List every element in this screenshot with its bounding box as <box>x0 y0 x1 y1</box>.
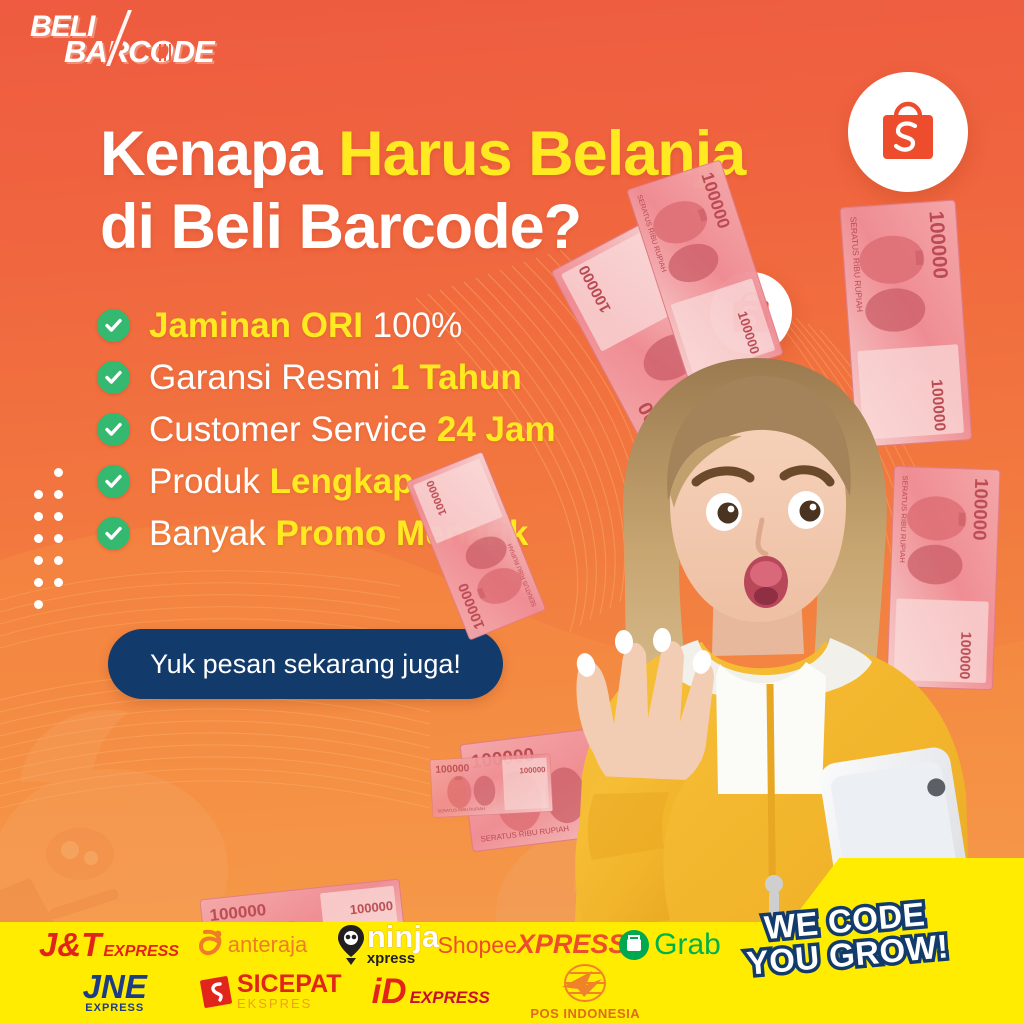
list-item-label: Garansi Resmi 1 Tahun <box>149 360 522 395</box>
headline-highlight: Harus Belanja <box>338 119 745 189</box>
courier-logo-jnt-express[interactable]: J&T EXPRESS <box>36 928 182 961</box>
page-title: Kenapa Harus Belanja di Beli Barcode? <box>100 118 880 264</box>
brand-logo[interactable]: BELI BELI BARCODE BARCODE <box>26 8 236 68</box>
feature-prefix: Garansi Resmi <box>149 358 390 397</box>
courier-row-2: JNE EXPRESS SICEPAT EKSPRES iD EXPRESS <box>40 963 660 1020</box>
courier-logo-ninja-xpress[interactable]: ninja xpress <box>322 923 454 966</box>
promo-banner: BELI BELI BARCODE BARCODE Kenapa Harus B… <box>0 0 1024 1024</box>
jne-sub: EXPRESS <box>85 1003 144 1014</box>
anteraja-label: anteraja <box>228 934 308 956</box>
feature-highlight: Lengkap <box>270 462 414 501</box>
order-now-button-label: Yuk pesan sekarang juga! <box>150 649 461 680</box>
order-now-button[interactable]: Yuk pesan sekarang juga! <box>108 629 503 699</box>
jne-main: JNE <box>83 970 147 1003</box>
feature-prefix: Customer Service <box>149 410 437 449</box>
headline-line-2: di Beli Barcode? <box>100 191 880 264</box>
grabexpress-mark-icon <box>619 930 649 960</box>
pos-indonesia-bird-icon <box>556 963 614 1007</box>
pos-label: POS INDONESIA <box>530 1007 640 1020</box>
courier-logo-jne-express[interactable]: JNE EXPRESS <box>40 970 190 1014</box>
idexpress-main: iD <box>372 974 407 1009</box>
feature-prefix: Banyak <box>149 514 275 553</box>
decorative-dot-grid <box>32 468 76 594</box>
courier-logo-grab[interactable]: Grab <box>610 930 730 960</box>
check-circle-icon <box>97 465 130 498</box>
check-circle-icon <box>97 413 130 446</box>
sicepat-mark-icon <box>199 975 233 1009</box>
check-circle-icon <box>97 361 130 394</box>
list-item-label: Banyak Promo Menarik <box>149 516 528 551</box>
feature-prefix: Produk <box>149 462 270 501</box>
sicepat-main: SICEPAT <box>237 973 342 997</box>
check-circle-icon <box>97 309 130 342</box>
grab-label: Grab <box>654 930 721 960</box>
courier-logo-sicepat-ekspres[interactable]: SICEPAT EKSPRES <box>190 973 351 1010</box>
list-item-label: Produk Lengkap <box>149 464 414 499</box>
ninja-pin-icon <box>337 925 365 965</box>
logo-text-barcode: BARCODE <box>64 34 216 68</box>
courier-logo-pos-indonesia[interactable]: POS INDONESIA <box>510 963 660 1020</box>
courier-logo-id-express[interactable]: iD EXPRESS <box>351 974 510 1009</box>
check-circle-icon <box>97 517 130 550</box>
list-item-label: Jaminan ORI 100% <box>149 308 462 343</box>
anteraja-mark-icon <box>197 928 225 962</box>
feature-suffix: 100% <box>363 306 462 345</box>
sicepat-sub: EKSPRES <box>237 997 312 1010</box>
jnt-main: J&T <box>39 928 101 961</box>
courier-logo-anteraja[interactable]: anteraja <box>182 928 322 962</box>
courier-logo-shopee-xpress[interactable]: Shopee XPRESS <box>454 931 610 958</box>
idexpress-sub: EXPRESS <box>410 989 490 1006</box>
chick-mascot-watermark <box>0 664 300 964</box>
jnt-sub: EXPRESS <box>103 944 179 960</box>
ninja-main: ninja <box>367 923 439 951</box>
courier-row-1: J&T EXPRESS anteraja ninja xpress <box>36 923 736 966</box>
headline-line-1: Kenapa Harus Belanja <box>100 118 880 191</box>
headline-plain: Kenapa <box>100 119 338 189</box>
feature-highlight: Jaminan ORI <box>149 306 363 345</box>
